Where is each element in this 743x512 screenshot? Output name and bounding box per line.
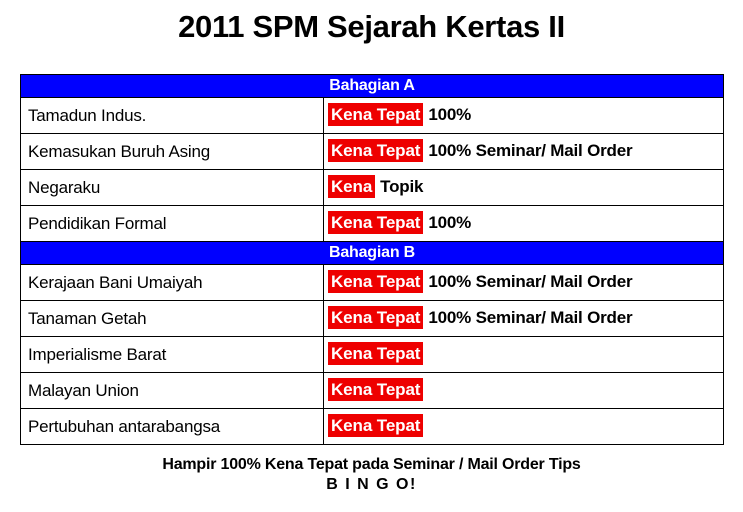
results-table-wrapper: Bahagian ATamadun Indus.Kena Tepat100%Ke… (20, 74, 723, 445)
status-note: 100% (428, 105, 471, 124)
topic-cell: Tanaman Getah (21, 301, 324, 337)
topic-label: Kemasukan Buruh Asing (28, 142, 210, 161)
status-badge: Kena Tepat (328, 270, 423, 293)
status-cell: Kena Tepat (324, 337, 724, 373)
status-note: 100% (428, 213, 471, 232)
table-row: Pendidikan FormalKena Tepat100% (21, 206, 724, 242)
status-inner: Kena Tepat100% (328, 98, 471, 133)
status-inner: Kena Tepat100% Seminar/ Mail Order (328, 265, 632, 300)
status-cell: Kena Tepat100% Seminar/ Mail Order (324, 301, 724, 337)
status-cell: Kena Tepat100% Seminar/ Mail Order (324, 134, 724, 170)
topic-label: Imperialisme Barat (28, 345, 166, 364)
table-row: Kerajaan Bani UmaiyahKena Tepat100% Semi… (21, 265, 724, 301)
section-header-row: Bahagian A (21, 75, 724, 98)
topic-cell: Pertubuhan antarabangsa (21, 409, 324, 445)
section-header-label: Bahagian A (21, 75, 723, 97)
status-note: 100% Seminar/ Mail Order (428, 308, 632, 327)
status-cell: Kena Tepat100% Seminar/ Mail Order (324, 265, 724, 301)
status-inner: Kena Tepat100% Seminar/ Mail Order (328, 134, 632, 169)
topic-label: Pertubuhan antarabangsa (28, 417, 220, 436)
footer-line-2: B I N G O! (0, 475, 743, 495)
status-note: 100% Seminar/ Mail Order (428, 272, 632, 291)
table-row: Tanaman GetahKena Tepat100% Seminar/ Mai… (21, 301, 724, 337)
topic-label: Kerajaan Bani Umaiyah (28, 273, 202, 292)
table-row: Pertubuhan antarabangsaKena Tepat (21, 409, 724, 445)
status-inner: Kena Tepat100% (328, 206, 471, 241)
topic-cell: Malayan Union (21, 373, 324, 409)
status-note: Topik (380, 177, 423, 196)
status-badge: Kena Tepat (328, 342, 423, 365)
topic-label: Malayan Union (28, 381, 139, 400)
table-row: Tamadun Indus.Kena Tepat100% (21, 98, 724, 134)
status-badge: Kena Tepat (328, 211, 423, 234)
status-badge: Kena Tepat (328, 378, 423, 401)
topic-label: Pendidikan Formal (28, 214, 166, 233)
section-header-row: Bahagian B (21, 242, 724, 265)
table-row: NegarakuKenaTopik (21, 170, 724, 206)
status-note: 100% Seminar/ Mail Order (428, 141, 632, 160)
results-table-body: Bahagian ATamadun Indus.Kena Tepat100%Ke… (21, 75, 724, 445)
status-inner: KenaTopik (328, 170, 423, 205)
status-badge: Kena Tepat (328, 139, 423, 162)
status-badge: Kena Tepat (328, 306, 423, 329)
topic-cell: Kerajaan Bani Umaiyah (21, 265, 324, 301)
status-cell: Kena Tepat (324, 409, 724, 445)
section-header-label: Bahagian B (21, 242, 723, 264)
topic-label: Negaraku (28, 178, 100, 197)
status-inner: Kena Tepat100% Seminar/ Mail Order (328, 301, 632, 336)
topic-cell: Tamadun Indus. (21, 98, 324, 134)
status-badge: Kena Tepat (328, 103, 423, 126)
status-badge: Kena (328, 175, 375, 198)
table-row: Malayan UnionKena Tepat (21, 373, 724, 409)
page-title: 2011 SPM Sejarah Kertas II (0, 0, 743, 42)
footer-line-1: Hampir 100% Kena Tepat pada Seminar / Ma… (0, 455, 743, 475)
results-table: Bahagian ATamadun Indus.Kena Tepat100%Ke… (20, 74, 724, 445)
section-header-cell: Bahagian A (21, 75, 724, 98)
topic-cell: Negaraku (21, 170, 324, 206)
table-row: Kemasukan Buruh AsingKena Tepat100% Semi… (21, 134, 724, 170)
section-header-cell: Bahagian B (21, 242, 724, 265)
status-cell: Kena Tepat100% (324, 98, 724, 134)
table-row: Imperialisme BaratKena Tepat (21, 337, 724, 373)
status-inner: Kena Tepat (328, 373, 423, 408)
status-cell: KenaTopik (324, 170, 724, 206)
topic-cell: Pendidikan Formal (21, 206, 324, 242)
status-badge: Kena Tepat (328, 414, 423, 437)
status-cell: Kena Tepat (324, 373, 724, 409)
topic-cell: Imperialisme Barat (21, 337, 324, 373)
status-inner: Kena Tepat (328, 337, 423, 372)
status-inner: Kena Tepat (328, 409, 423, 444)
footer: Hampir 100% Kena Tepat pada Seminar / Ma… (0, 455, 743, 495)
topic-label: Tanaman Getah (28, 309, 146, 328)
status-cell: Kena Tepat100% (324, 206, 724, 242)
topic-cell: Kemasukan Buruh Asing (21, 134, 324, 170)
topic-label: Tamadun Indus. (28, 106, 146, 125)
slide-page: 2011 SPM Sejarah Kertas II Bahagian ATam… (0, 0, 743, 512)
